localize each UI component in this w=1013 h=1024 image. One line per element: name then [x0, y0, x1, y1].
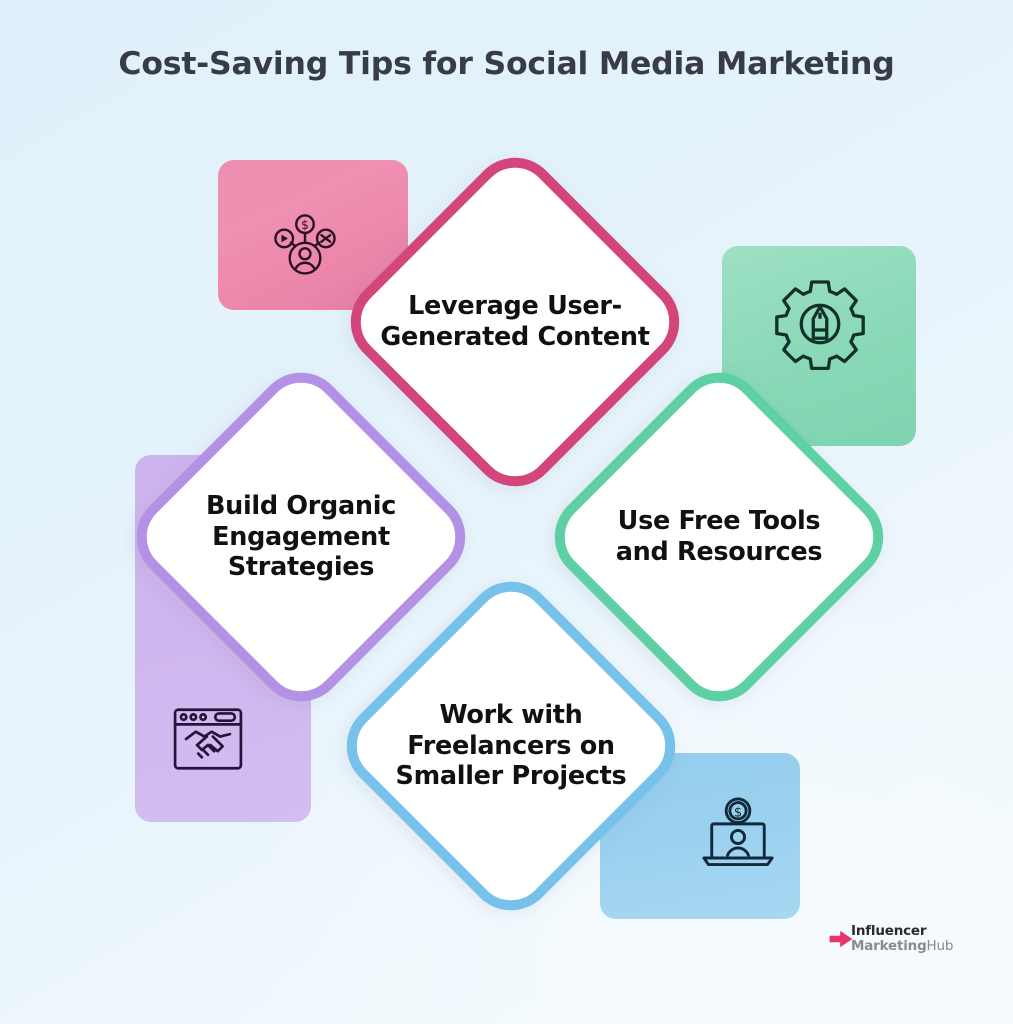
card-user-generated-content[interactable]: Leverage User- Generated Content — [333, 140, 698, 505]
laptop-dollar-icon: $ — [696, 795, 780, 879]
brand-logo[interactable]: Influencer MarketingHub — [828, 921, 958, 957]
logo-wordmark: Influencer MarketingHub — [851, 925, 953, 953]
browser-handshake-icon — [169, 700, 247, 778]
logo-line-influencer: Influencer — [851, 925, 953, 939]
svg-text:$: $ — [301, 218, 309, 232]
gear-pencil-icon — [772, 276, 868, 372]
logo-marketing-text: Marketing — [851, 938, 927, 954]
logo-line-marketinghub: MarketingHub — [851, 940, 953, 954]
page-title: Cost-Saving Tips for Social Media Market… — [0, 46, 1013, 82]
svg-text:$: $ — [734, 806, 742, 821]
card-user-generated-content-label: Leverage User- Generated Content — [365, 193, 665, 451]
logo-hub-text: Hub — [927, 938, 954, 954]
infographic-canvas: Cost-Saving Tips for Social Media Market… — [0, 0, 1013, 1024]
user-content-icon: $ — [270, 210, 340, 280]
